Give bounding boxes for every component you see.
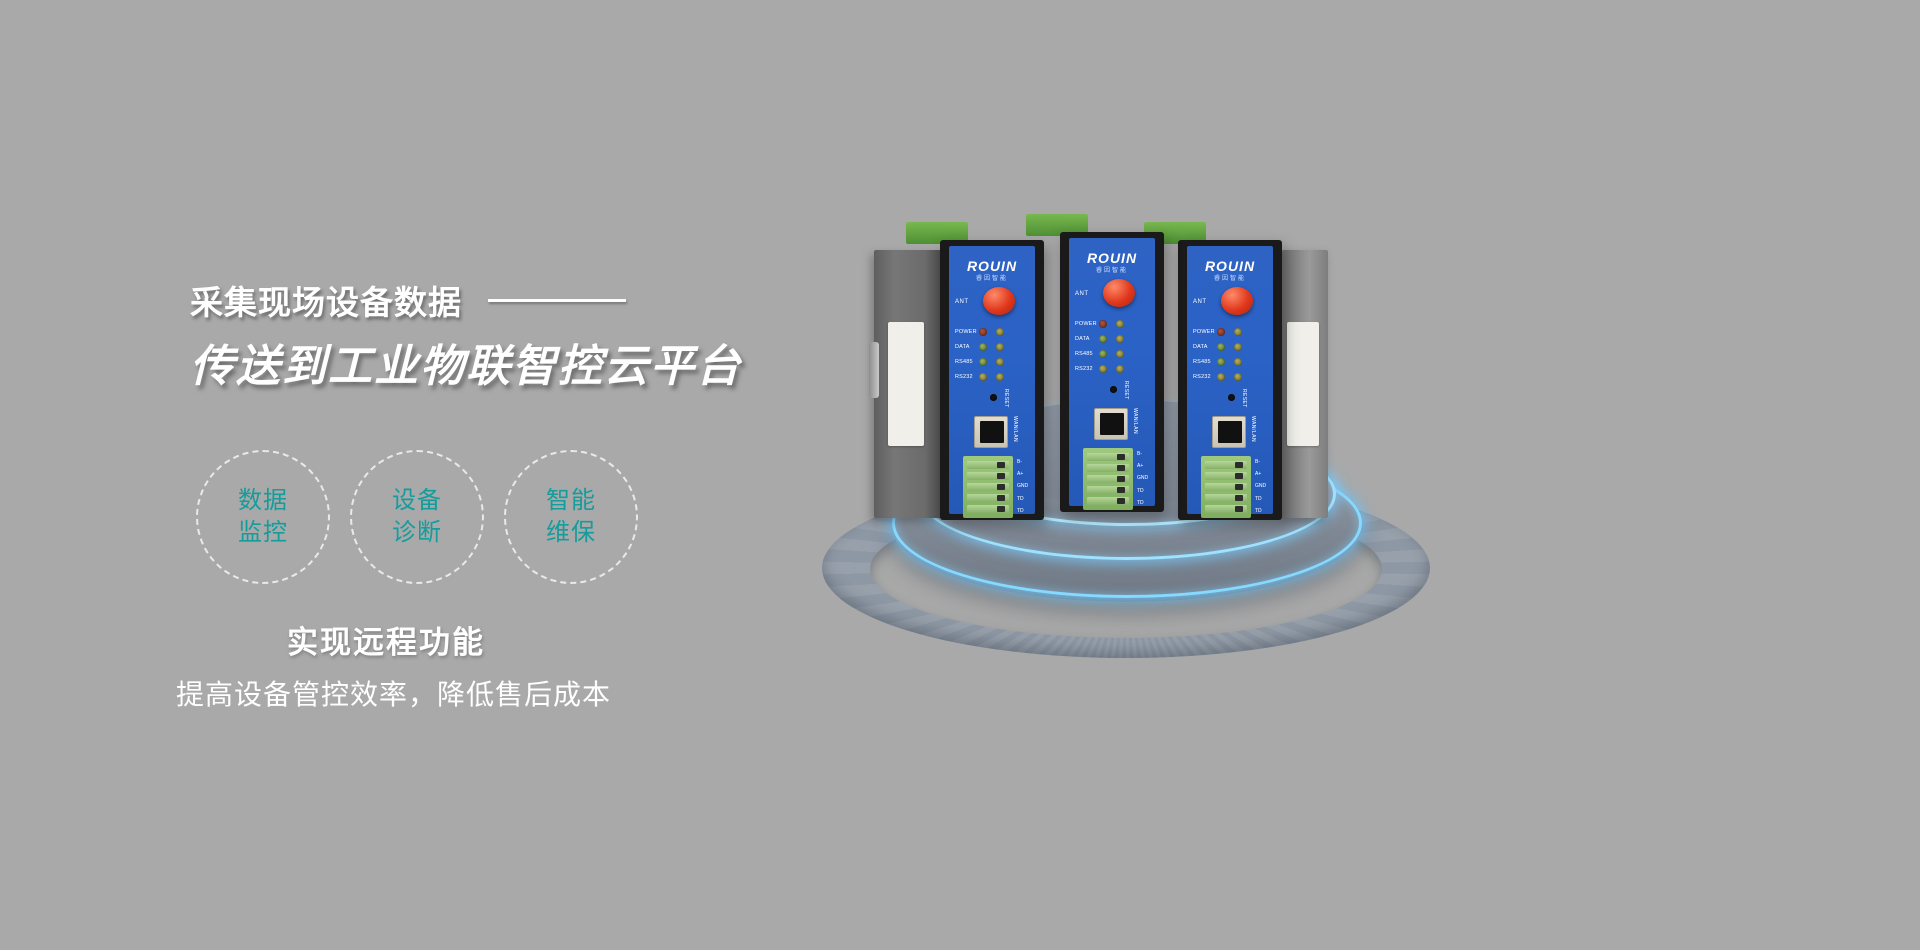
led-row: RS232 [1075,361,1149,376]
led-dot [996,358,1004,366]
feature-badge-device-diagnosis[interactable]: 设备 诊断 [350,450,484,584]
led-row: RS232 [955,369,1029,384]
terminal-pin [967,483,1009,491]
led-dot [996,373,1004,381]
brand-logo: ROUIN [1069,250,1155,266]
device-front-face: ROUIN 睿因智能 ANT POWER DATA RS485 RS232 RE… [1187,246,1273,514]
terminal-label: A+ [1017,472,1028,477]
terminal-pin [967,494,1009,502]
led-dot [1217,358,1225,366]
antenna-port-icon [1221,287,1253,315]
rj45-port-opening [1218,421,1242,443]
terminal-pin [1087,497,1129,505]
badge-line-2: 诊断 [392,517,442,549]
led-dot [979,343,987,351]
led-row: POWER [955,324,1029,339]
terminal-pin [967,472,1009,480]
badge-line-1: 智能 [546,485,596,517]
terminal-pin [967,461,1009,469]
terminal-label: TD [1137,501,1148,506]
led-indicator-group: POWER DATA RS485 RS232 [1075,316,1149,376]
led-dot [1217,343,1225,351]
led-row: RS485 [1193,354,1267,369]
led-dot [1116,335,1124,343]
led-dot [996,343,1004,351]
device-side-panel [874,250,942,518]
terminal-pin [1205,494,1247,502]
brand-logo: ROUIN [949,258,1035,274]
reset-button[interactable] [1110,386,1117,393]
terminal-pin [1205,483,1247,491]
terminal-label: GND [1255,484,1266,489]
brand-logo-sub: 睿因智能 [1187,273,1273,282]
rj45-port [1212,416,1246,448]
led-indicator-group: POWER DATA RS485 RS232 [955,324,1029,384]
terminal-label: TD [1017,509,1028,514]
led-label: RS485 [955,359,979,365]
headline-row: 采集现场设备数据 [190,278,830,322]
headline-divider-line [488,299,626,302]
led-label: DATA [955,344,979,350]
led-dot [1217,328,1225,336]
terminal-pin [1087,475,1129,483]
reset-label: RESET [1123,381,1129,400]
terminal-pin [1087,453,1129,461]
device-body: ROUIN 睿因智能 ANT POWER DATA RS485 RS232 RE… [1178,240,1282,520]
antenna-port-icon [1103,279,1135,307]
rj45-port-opening [1100,413,1124,435]
led-dot [979,328,987,336]
rj45-port [974,416,1008,448]
terminal-pin [1205,505,1247,513]
terminal-pin [1087,464,1129,472]
badge-line-2: 监控 [238,517,288,549]
iot-gateway-device: ROUIN 睿因智能 ANT POWER DATA RS485 RS232 RE… [940,240,1044,520]
led-dot [1217,373,1225,381]
led-label: DATA [1193,344,1217,350]
promo-banner: 采集现场设备数据 传送到工业物联智控云平台 数据 监控 设备 诊断 智能 维保 … [0,0,1920,950]
device-body: ROUIN 睿因智能 ANT POWER DATA RS485 RS232 RE… [940,240,1044,520]
led-dot [979,373,987,381]
reset-label: RESET [1241,389,1247,408]
device-spec-label [1287,322,1319,446]
led-label: DATA [1075,336,1099,342]
reset-label: RESET [1003,389,1009,408]
led-dot [1234,343,1242,351]
terminal-label: B- [1137,452,1148,457]
screw-terminal-block [1201,456,1251,518]
terminal-label: TD [1255,497,1266,502]
led-row: DATA [955,339,1029,354]
led-label: RS485 [1193,359,1217,365]
terminal-pin [1205,461,1247,469]
led-row: POWER [1193,324,1267,339]
iot-gateway-device: ROUIN 睿因智能 ANT POWER DATA RS485 RS232 RE… [1060,232,1164,512]
lan-port-label: WAN/LAN [1250,416,1256,442]
feature-badge-smart-maintenance[interactable]: 智能 维保 [504,450,638,584]
copy-block: 采集现场设备数据 传送到工业物联智控云平台 [190,278,830,394]
terminal-label: TD [1017,497,1028,502]
sub-title: 实现远程功能 [287,617,485,662]
led-dot [1099,320,1107,328]
terminal-label: GND [1137,476,1148,481]
brand-logo-sub: 睿因智能 [949,273,1035,282]
reset-button[interactable] [990,394,997,401]
led-dot [979,358,987,366]
led-label: POWER [955,329,979,335]
badge-line-1: 数据 [238,485,288,517]
terminal-pin [1205,472,1247,480]
din-rail-clip [869,342,879,398]
led-dot [1234,358,1242,366]
led-dot [1116,365,1124,373]
led-dot [1099,335,1107,343]
device-side-panel [1282,250,1328,518]
terminal-label: B- [1017,460,1028,465]
terminal-label: A+ [1255,472,1266,477]
sub-description: 提高设备管控效率，降低售后成本 [176,673,611,713]
led-label: POWER [1193,329,1217,335]
terminal-label: A+ [1137,464,1148,469]
led-dot [1099,350,1107,358]
led-row: RS485 [955,354,1029,369]
badge-line-2: 维保 [546,517,596,549]
led-dot [1234,328,1242,336]
antenna-port-icon [983,287,1015,315]
led-row: DATA [1193,339,1267,354]
led-label: POWER [1075,321,1099,327]
terminal-label-group: B- A+ GND TD TD [1017,456,1028,518]
led-row: RS232 [1193,369,1267,384]
led-label: RS232 [1193,374,1217,380]
badge-line-1: 设备 [392,485,442,517]
antenna-label: ANT [1075,291,1089,297]
headline-secondary: 传送到工业物联智控云平台 [190,330,830,394]
terminal-pin [1087,486,1129,494]
screw-terminal-block [1083,448,1133,510]
brand-logo-sub: 睿因智能 [1069,265,1155,274]
led-row: POWER [1075,316,1149,331]
product-scene: ROUIN 睿因智能 ANT POWER DATA RS485 RS232 RE… [800,200,1500,700]
lan-port-label: WAN/LAN [1012,416,1018,442]
led-dot [1234,373,1242,381]
led-dot [1099,365,1107,373]
rj45-port-opening [980,421,1004,443]
screw-terminal-block [963,456,1013,518]
device-front-face: ROUIN 睿因智能 ANT POWER DATA RS485 RS232 RE… [949,246,1035,514]
led-dot [1116,350,1124,358]
device-right-side-panel-wrapper [1282,240,1386,520]
terminal-pin [967,505,1009,513]
led-dot [996,328,1004,336]
led-row: DATA [1075,331,1149,346]
terminal-label-group: B- A+ GND TD TD [1137,448,1148,510]
antenna-label: ANT [1193,299,1207,305]
device-front-face: ROUIN 睿因智能 ANT POWER DATA RS485 RS232 RE… [1069,238,1155,506]
terminal-label: TD [1137,489,1148,494]
terminal-label: B- [1255,460,1266,465]
headline-primary: 采集现场设备数据 [190,276,462,324]
iot-gateway-device: ROUIN 睿因智能 ANT POWER DATA RS485 RS232 RE… [1178,240,1282,520]
led-indicator-group: POWER DATA RS485 RS232 [1193,324,1267,384]
led-dot [1116,320,1124,328]
device-body: ROUIN 睿因智能 ANT POWER DATA RS485 RS232 RE… [1060,232,1164,512]
terminal-label: GND [1017,484,1028,489]
lan-port-label: WAN/LAN [1132,408,1138,434]
feature-badge-data-monitoring[interactable]: 数据 监控 [196,450,330,584]
led-label: RS485 [1075,351,1099,357]
rj45-port [1094,408,1128,440]
antenna-label: ANT [955,299,969,305]
reset-button[interactable] [1228,394,1235,401]
terminal-label-group: B- A+ GND TD TD [1255,456,1266,518]
led-label: RS232 [955,374,979,380]
brand-logo: ROUIN [1187,258,1273,274]
terminal-label: TD [1255,509,1266,514]
feature-badge-group: 数据 监控 设备 诊断 智能 维保 [196,450,638,584]
led-row: RS485 [1075,346,1149,361]
device-spec-label [888,322,924,446]
led-label: RS232 [1075,366,1099,372]
